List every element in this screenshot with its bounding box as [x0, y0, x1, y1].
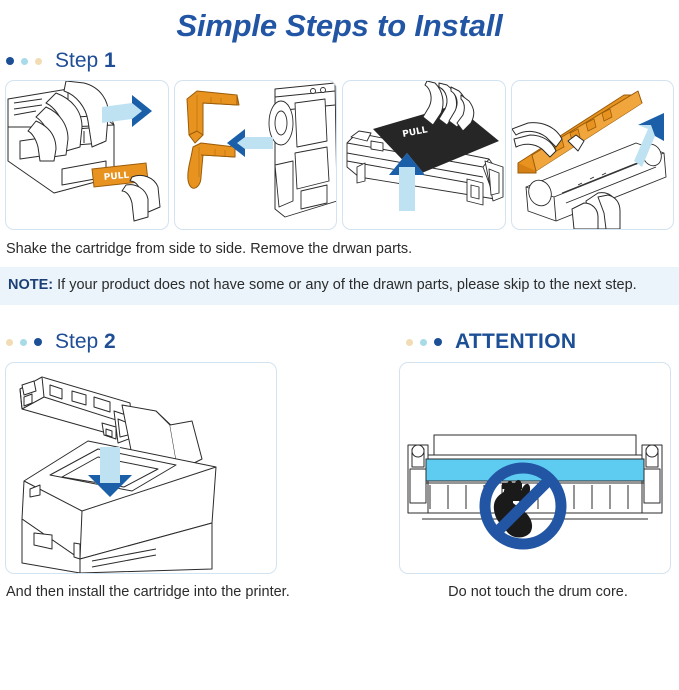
note-prefix: NOTE: — [8, 277, 53, 293]
install-cartridge-illustration — [6, 363, 276, 573]
remove-orange-cover-illustration — [512, 81, 675, 229]
panel-pull-tab: PULL — [5, 80, 169, 230]
note-box: NOTE: If your product does not have some… — [0, 267, 679, 305]
step2-header: Step 2 — [0, 327, 400, 357]
pull-tab-illustration: PULL — [6, 81, 169, 229]
panel-install-cartridge — [5, 362, 277, 574]
dot-icon-secondary — [20, 339, 27, 346]
dot-icon-primary — [34, 338, 42, 346]
pull-cover-illustration: PULL — [343, 81, 506, 229]
dot-icon-secondary — [420, 339, 427, 346]
step2-label: Step 2 — [55, 329, 116, 355]
attention-header: ATTENTION — [400, 327, 576, 357]
dot-icon-tertiary — [6, 339, 13, 346]
bottom-captions: And then install the cartridge into the … — [0, 574, 679, 603]
bottom-panel-row — [0, 362, 679, 574]
step2-header-wrap: Step 2 — [0, 327, 400, 357]
dot-icon-primary — [434, 338, 442, 346]
dot-icon-tertiary — [35, 58, 42, 65]
dot-icon-tertiary — [406, 339, 413, 346]
do-not-touch-illustration — [400, 363, 670, 573]
panel-remove-clips — [174, 80, 338, 230]
panel-remove-orange-cover — [511, 80, 675, 230]
page-title: Simple Steps to Install — [0, 6, 679, 46]
note-text: If your product does not have some or an… — [53, 277, 637, 293]
step1-header: Step 1 — [0, 46, 679, 76]
dot-icon-secondary — [21, 58, 28, 65]
step1-caption: Shake the cartridge from side to side. R… — [0, 230, 679, 259]
attention-header-wrap: ATTENTION — [400, 327, 576, 357]
bottom-headers: Step 2 ATTENTION — [0, 327, 679, 357]
panel-pull-cover: PULL — [342, 80, 506, 230]
step1-label: Step 1 — [55, 48, 116, 74]
panel-do-not-touch — [399, 362, 671, 574]
step2-dots — [6, 338, 42, 346]
attention-caption: Do not touch the drum core. — [403, 574, 673, 603]
attention-dots — [406, 338, 442, 346]
attention-label: ATTENTION — [455, 330, 576, 354]
step2-caption: And then install the cartridge into the … — [6, 574, 403, 603]
step1-dots — [6, 57, 42, 65]
step1-panel-row: PULL — [0, 80, 679, 230]
dot-icon-primary — [6, 57, 14, 65]
remove-clips-illustration — [175, 81, 338, 229]
